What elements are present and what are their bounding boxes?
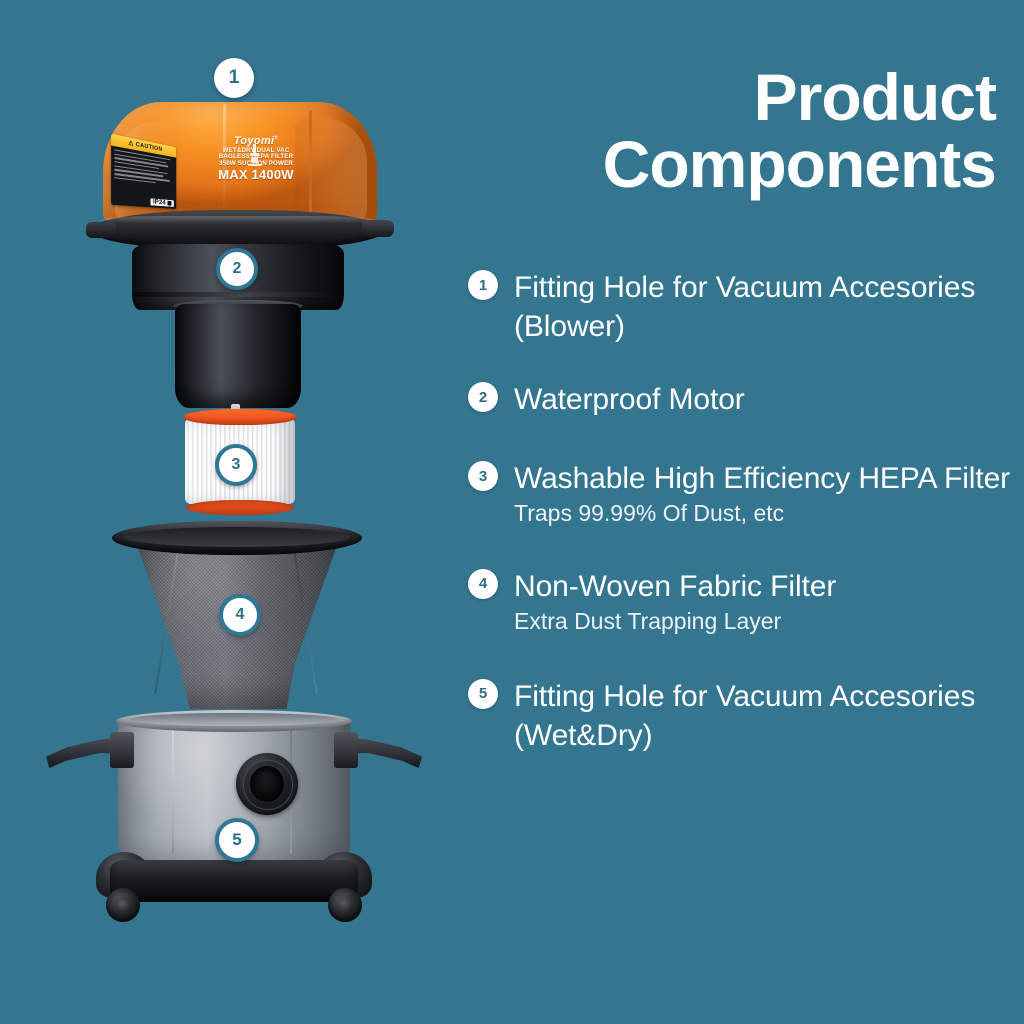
feature-item-1: 1 Fitting Hole for Vacuum Accesories (Bl… [462, 268, 1022, 346]
motor-drum-ridge [134, 292, 342, 297]
page-title-line-1: Product [476, 64, 996, 131]
feature-sub-3: Traps 99.99% Of Dust, etc [514, 499, 1022, 529]
ip-rating-badge: IP24 [150, 198, 174, 207]
feature-list: 1 Fitting Hole for Vacuum Accesories (Bl… [462, 268, 1022, 755]
page-title-line-2: Components [476, 131, 996, 198]
vacuum-cleaner-icon [246, 142, 264, 168]
infographic-canvas: Toyomi® WET&DRY DUAL VAC BAGLESS HEPA FI… [0, 0, 1024, 1024]
feature-label-5: Fitting Hole for Vacuum Accesories (Wet&… [514, 677, 1022, 755]
tank-latch-right-block [334, 732, 358, 768]
feature-number-badge-5: 5 [468, 679, 498, 709]
feature-number-badge-3: 3 [468, 461, 498, 491]
feature-item-5: 5 Fitting Hole for Vacuum Accesories (We… [462, 677, 1022, 755]
tank-seam-left [172, 726, 174, 854]
feature-label-1: Fitting Hole for Vacuum Accesories (Blow… [514, 268, 1022, 346]
page-title: Product Components [476, 64, 996, 199]
brand-registered-icon: ® [274, 135, 278, 141]
tank-base-plate [110, 860, 358, 902]
feature-label-4: Non-Woven Fabric Filter [514, 567, 1022, 606]
caster-wheel-right [328, 888, 362, 922]
tank-top-lip-inner [130, 713, 338, 726]
feature-item-2: 2 Waterproof Motor [462, 380, 1022, 419]
warning-triangle-icon: ⚠ [128, 139, 134, 147]
print-max-power: MAX 1400W [196, 168, 316, 182]
feature-number-badge-1: 1 [468, 270, 498, 300]
caster-wheel-left [106, 888, 140, 922]
feature-item-4: 4 Non-Woven Fabric Filter Extra Dust Tra… [462, 567, 1022, 637]
feature-sub-4: Extra Dust Trapping Layer [514, 607, 1022, 637]
product-marker-4[interactable]: 4 [219, 594, 261, 636]
caution-sticker: ⚠ CAUTION IP24 [111, 134, 176, 209]
motor-flange-ear-left [86, 222, 116, 238]
tank-latch-left-block [110, 732, 134, 768]
feature-number-badge-4: 4 [468, 569, 498, 599]
feature-number-badge-2: 2 [468, 382, 498, 412]
product-exploded-view: Toyomi® WET&DRY DUAL VAC BAGLESS HEPA FI… [0, 0, 450, 1024]
motor-flange-ear-right [362, 220, 394, 237]
information-panel: Product Components 1 Fitting Hole for Va… [452, 0, 1024, 1024]
motor-barrel [175, 304, 301, 408]
feature-label-2: Waterproof Motor [514, 380, 1022, 419]
product-marker-2[interactable]: 2 [216, 248, 258, 290]
tank-inlet-port-hole [250, 766, 284, 802]
waterproof-motor-assembly [90, 208, 390, 408]
ip-rating-text: IP24 [153, 199, 166, 207]
hepa-bottom-rim [186, 500, 294, 515]
feature-item-3: 3 Washable High Efficiency HEPA Filter T… [462, 459, 1022, 529]
hepa-top-rim [183, 409, 297, 425]
fabric-filter-rim-inner [124, 527, 350, 547]
product-marker-1[interactable]: 1 [214, 58, 254, 98]
double-insulation-icon [167, 201, 171, 206]
product-marker-5[interactable]: 5 [215, 818, 259, 862]
feature-label-3: Washable High Efficiency HEPA Filter [514, 459, 1022, 498]
product-marker-3[interactable]: 3 [215, 444, 257, 486]
